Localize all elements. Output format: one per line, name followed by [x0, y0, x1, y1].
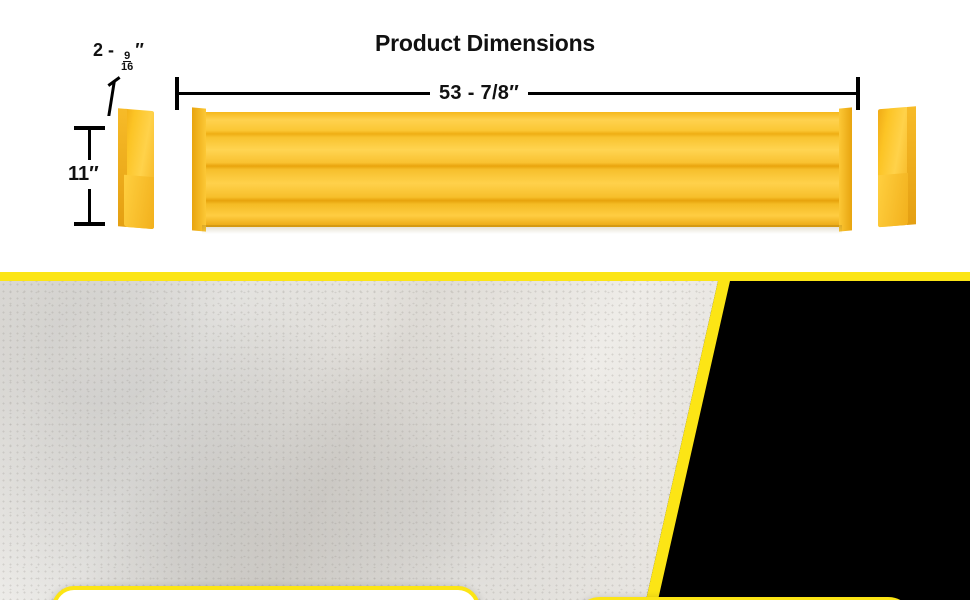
guard-rail-shadow — [202, 225, 842, 234]
concrete-texture-overlay — [0, 281, 740, 600]
infographic-root: Product Dimensions 2 - 916″ 53 - 7/8″ 11… — [0, 0, 970, 600]
end-cap-left-notch — [124, 175, 154, 229]
end-cap-right-lip — [907, 106, 916, 225]
depth-unit: ″ — [135, 40, 144, 60]
guard-rail-right-edge — [839, 107, 852, 231]
end-cap-bracket-left — [118, 108, 162, 229]
guard-rail-left-edge — [192, 107, 206, 231]
depth-dimension-label: 2 - 916″ — [93, 40, 144, 73]
guard-rail-beam — [192, 112, 852, 227]
end-cap-right-notch — [878, 173, 908, 227]
width-dimension-label: 53 - 7/8″ — [430, 78, 528, 108]
concrete-background-photo — [0, 281, 740, 600]
depth-fraction-denominator: 16 — [120, 62, 134, 72]
guard-rail-body — [192, 112, 852, 227]
product-dimensions-section: Product Dimensions 2 - 916″ 53 - 7/8″ 11… — [0, 0, 970, 272]
width-dimension-cap-right — [856, 77, 860, 110]
page-title: Product Dimensions — [0, 30, 970, 57]
features-section: Installation hardware included — [0, 281, 970, 600]
height-dimension-cap-top — [74, 126, 105, 130]
height-dimension-cap-bottom — [74, 222, 105, 226]
hardware-card: Installation hardware included — [52, 586, 480, 600]
end-cap-bracket-right — [872, 106, 916, 227]
depth-fraction: 916 — [120, 51, 134, 73]
width-dimension-cap-left — [175, 77, 179, 110]
depth-whole-number: 2 - — [93, 40, 119, 60]
height-dimension-label: 11″ — [66, 160, 101, 189]
yellow-divider-bar — [0, 272, 970, 281]
